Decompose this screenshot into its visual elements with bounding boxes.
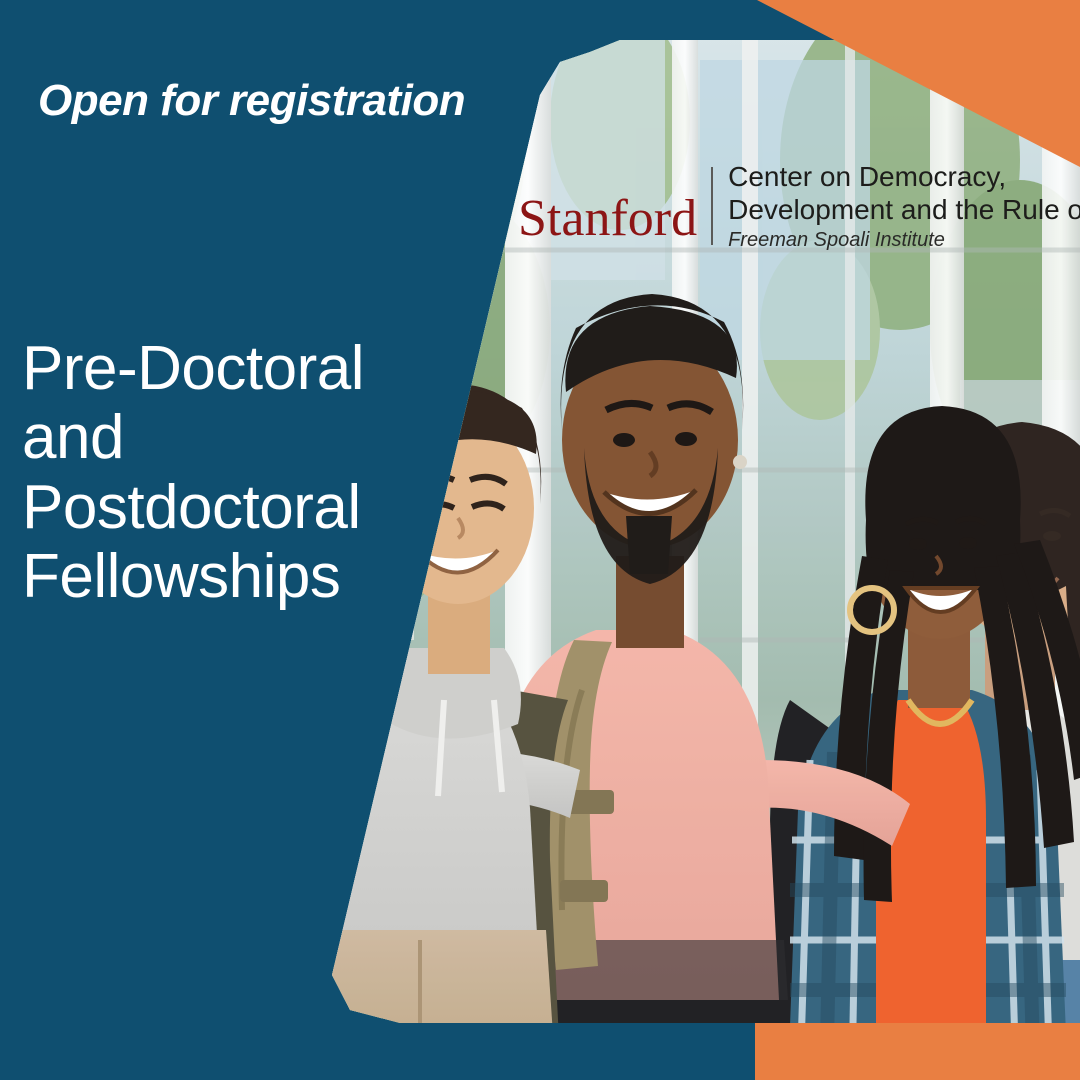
logo-line-2: Development and the Rule of Law: [728, 193, 1080, 226]
stanford-wordmark: Stanford: [518, 193, 711, 245]
page-title: Pre-Doctoral and Postdoctoral Fellowship…: [22, 334, 452, 612]
stanford-cddrl-logo: Stanford Center on Democracy, Developmen…: [518, 160, 1080, 252]
logo-line-1: Center on Democracy,: [728, 160, 1080, 193]
headline-line-1: Pre-Doctoral: [22, 334, 452, 403]
poster-canvas: Stanford Center on Democracy, Developmen…: [0, 0, 1080, 1080]
logo-text-block: Center on Democracy, Development and the…: [728, 160, 1080, 252]
logo-line-3: Freeman Spoali Institute: [728, 229, 1080, 252]
logo-divider: [711, 167, 713, 245]
kicker-text: Open for registration: [38, 76, 465, 126]
headline-line-3: Postdoctoral: [22, 473, 452, 542]
headline-line-4: Fellowships: [22, 542, 452, 611]
accent-bar-bottom-right: [755, 1023, 1080, 1080]
headline-line-2: and: [22, 403, 452, 472]
